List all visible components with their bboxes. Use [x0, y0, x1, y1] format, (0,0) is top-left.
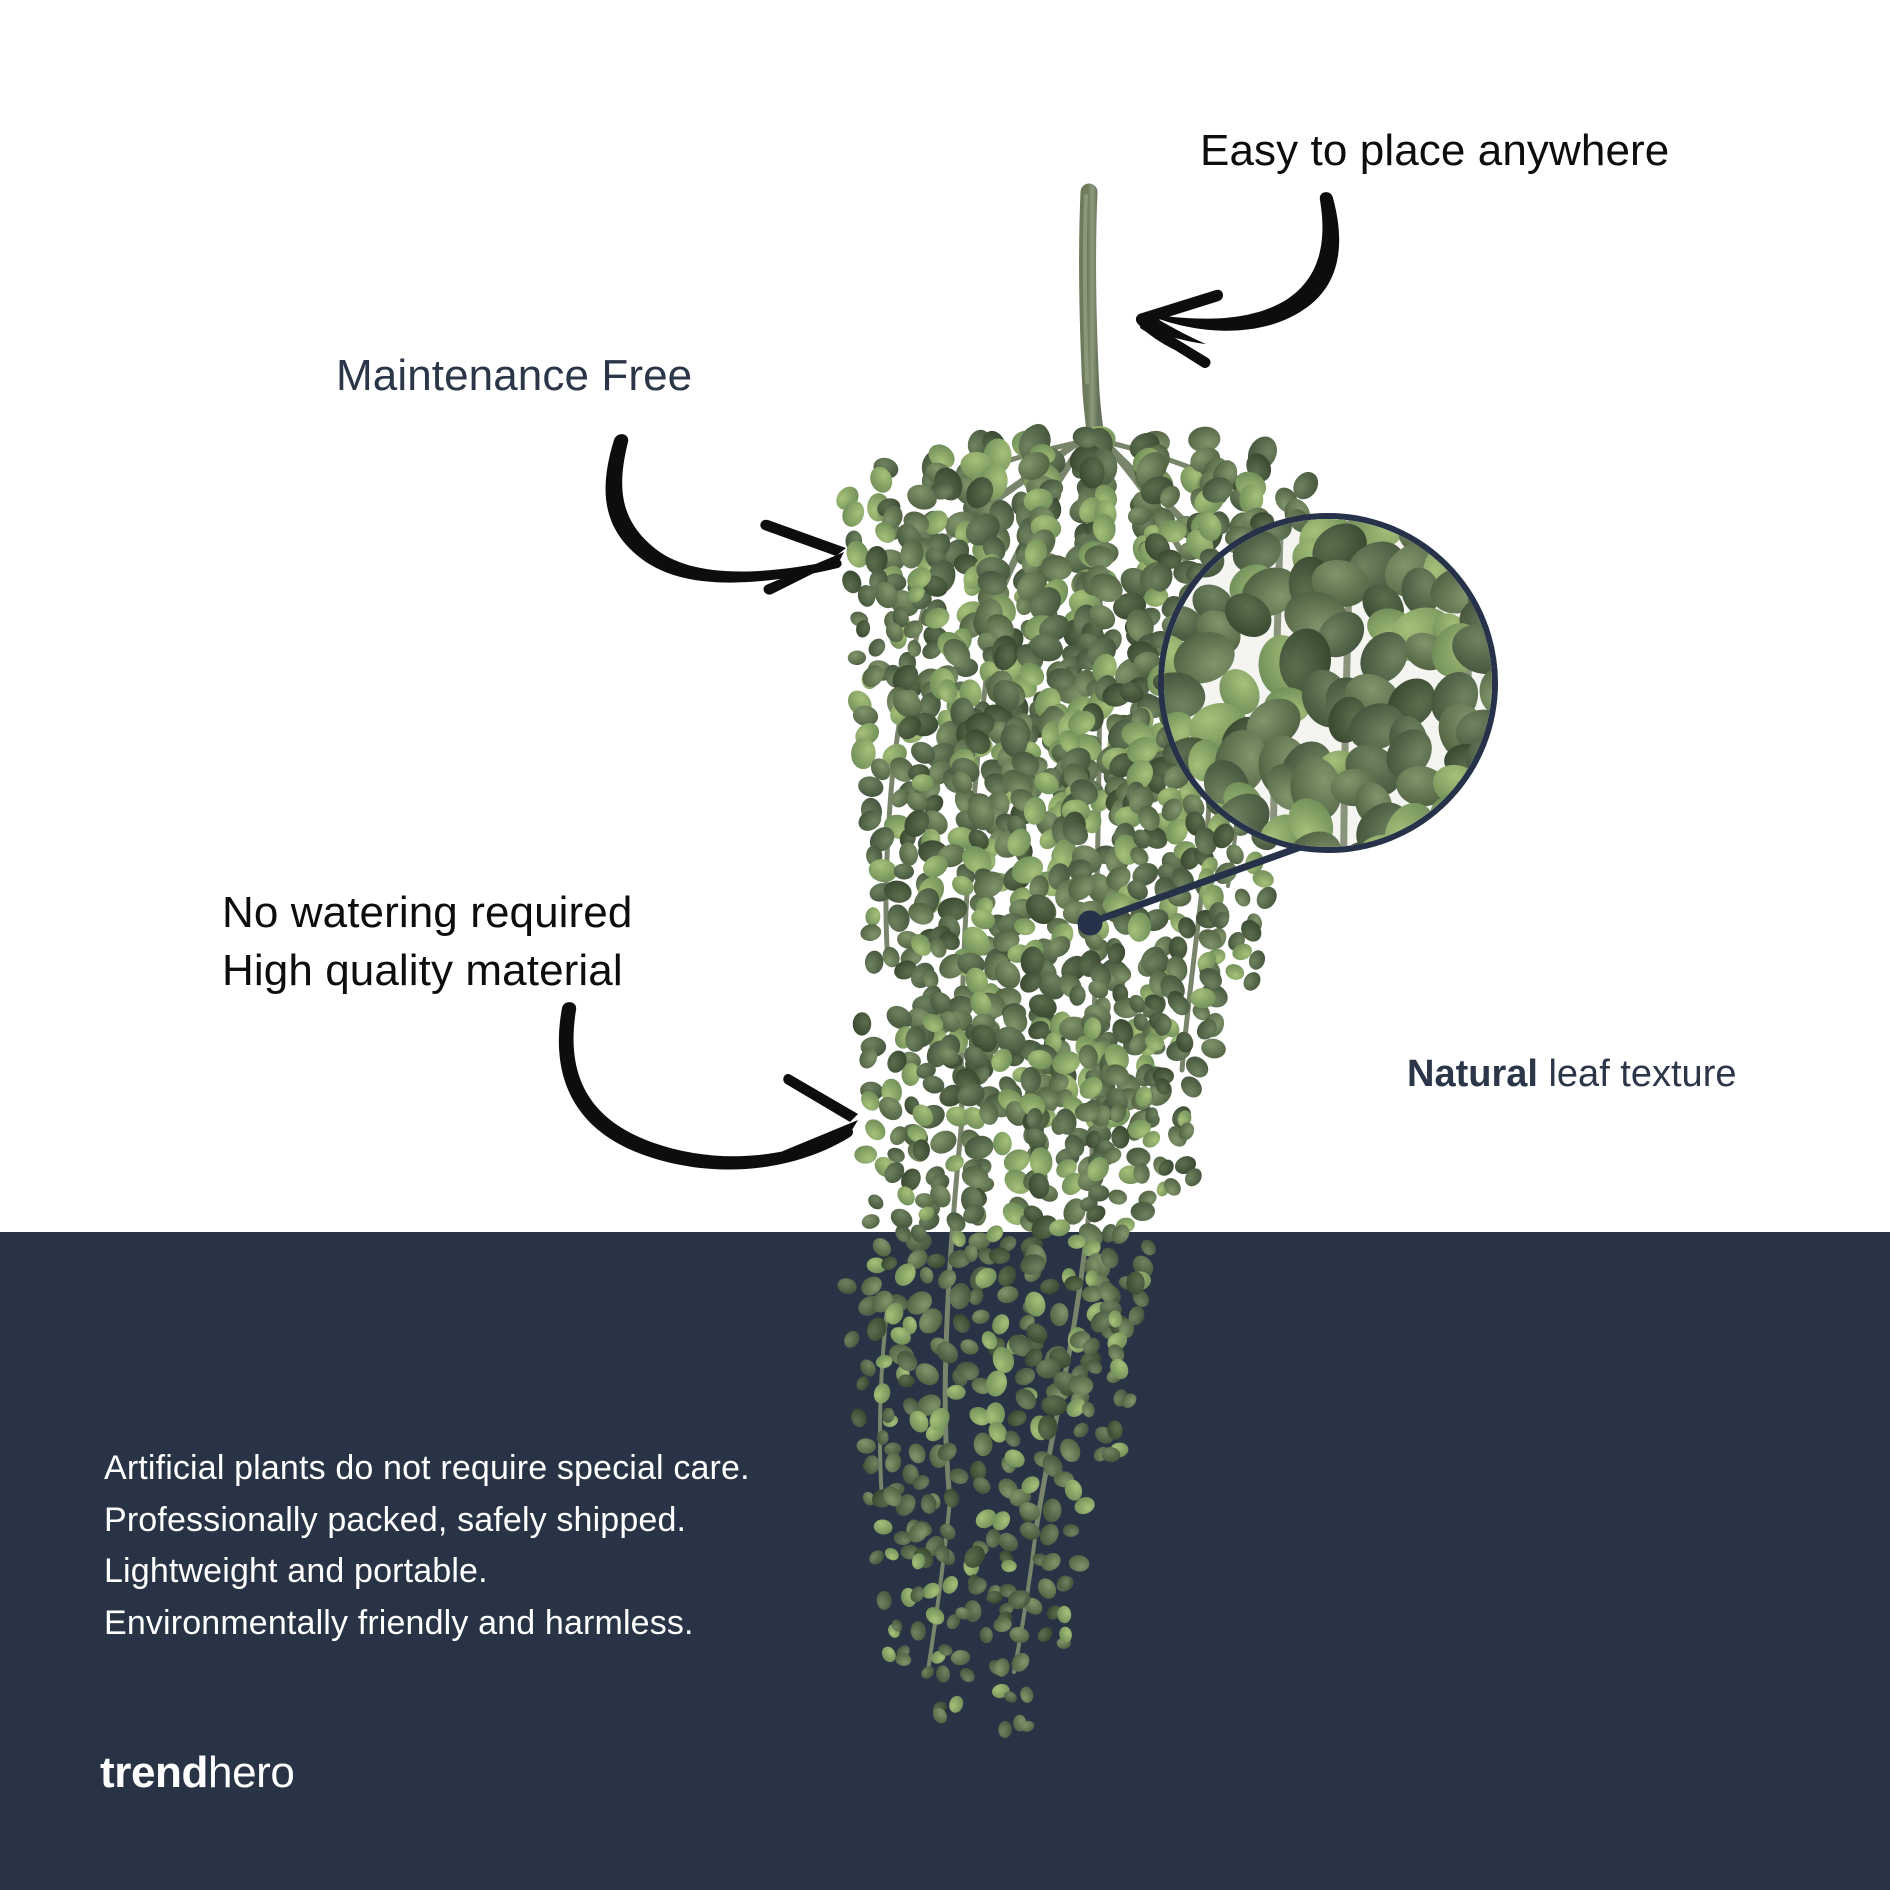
annotation-no-watering: No watering required High quality materi… [222, 884, 632, 1000]
leaf-texture-magnifier [1158, 513, 1498, 853]
callout-caption-bold: Natural [1407, 1053, 1538, 1095]
logo-bold-part: trend [100, 1748, 208, 1797]
infographic-canvas: Easy to place anywhere Maintenance Free … [0, 0, 1890, 1890]
white-background-band [0, 0, 1890, 1232]
logo-light-part: hero [208, 1748, 294, 1797]
callout-caption: Natural leaf texture [1407, 1053, 1736, 1096]
bottom-feature-copy: Artificial plants do not require special… [104, 1443, 750, 1650]
magnifier-content [1158, 513, 1498, 853]
annotation-easy-to-place: Easy to place anywhere [1200, 122, 1669, 180]
callout-caption-regular: leaf texture [1538, 1053, 1737, 1095]
brand-logo[interactable]: trendhero [100, 1748, 294, 1798]
annotation-maintenance-free: Maintenance Free [336, 347, 692, 405]
